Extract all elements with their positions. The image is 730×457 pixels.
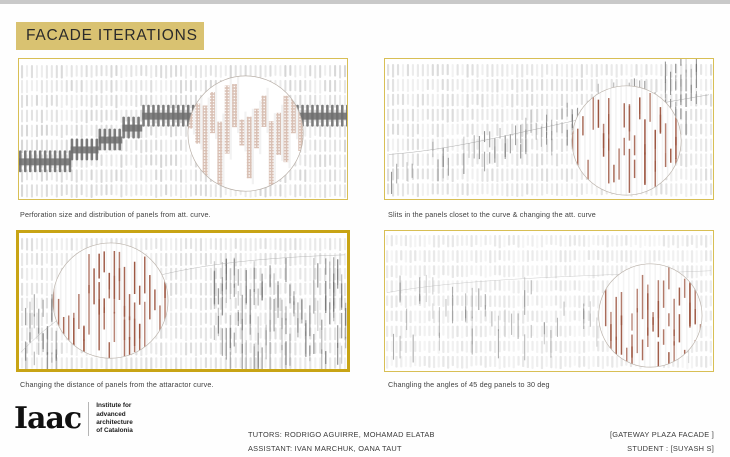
iteration-caption-3: Changing the distance of panels from the… — [20, 380, 214, 389]
project-title: [GATEWAY PLAZA FACADE ] — [610, 428, 714, 442]
facade-drawing-4 — [385, 231, 713, 371]
iteration-caption-1: Perforation size and distribution of pan… — [20, 210, 211, 219]
logo-divider — [88, 402, 89, 436]
logo-line-1: Institute for — [96, 402, 133, 410]
iteration-panel-3[interactable] — [16, 230, 350, 372]
project-block: [GATEWAY PLAZA FACADE ] STUDENT : [SUYAS… — [610, 428, 714, 457]
iaac-logo-mark: Iaac — [14, 404, 81, 434]
facade-drawing-2 — [385, 59, 713, 199]
tutors-line: TUTORS: RODRIGO AGUIRRE, MOHAMAD ELATAB — [248, 428, 435, 442]
iteration-panel-2[interactable] — [384, 58, 714, 200]
iteration-image-4 — [385, 231, 713, 371]
facade-drawing-3 — [19, 233, 347, 369]
iteration-caption-4: Changling the angles of 45 deg panels to… — [388, 380, 550, 389]
page-title: FACADE ITERATIONS — [16, 27, 198, 45]
iaac-logo-subtitle: Institute for advanced architecture of C… — [96, 402, 133, 436]
facade-drawing-1 — [19, 59, 347, 199]
iaac-logo: Iaac Institute for advanced architecture… — [14, 402, 133, 436]
logo-line-4: of Catalonia — [96, 427, 133, 435]
student-name: STUDENT : [SUYASH S] — [610, 442, 714, 456]
assistant-line: ASSISTANT: IVAN MARCHUK, OANA TAUT — [248, 442, 435, 456]
logo-line-3: architecture — [96, 419, 133, 427]
page-title-banner: FACADE ITERATIONS — [16, 22, 204, 50]
presentation-board: FACADE ITERATIONS — [0, 4, 730, 456]
iteration-image-1 — [19, 59, 347, 199]
iteration-panel-1[interactable] — [18, 58, 348, 200]
credits-block: TUTORS: RODRIGO AGUIRRE, MOHAMAD ELATAB … — [248, 428, 435, 457]
iteration-image-3 — [19, 233, 347, 369]
iteration-panel-4[interactable] — [384, 230, 714, 372]
logo-line-2: advanced — [96, 411, 133, 419]
iteration-caption-2: Slits in the panels closet to the curve … — [388, 210, 596, 219]
iteration-image-2 — [385, 59, 713, 199]
